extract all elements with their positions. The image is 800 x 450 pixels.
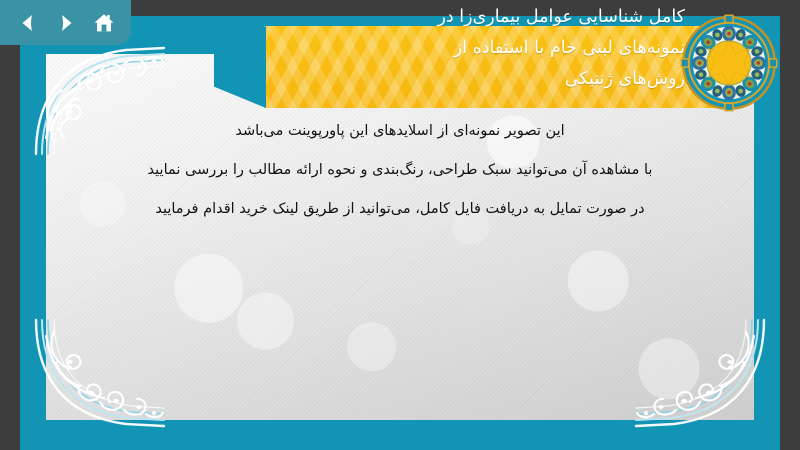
previous-slide-button[interactable] [14,9,42,37]
title-line-3: روش‌های ژنتیکی [230,64,685,95]
body-line-1: این تصویر نمونه‌ای از اسلایدهای این پاور… [50,112,750,151]
title-line-1: کامل شناسایی عوامل بیماری‌زا در [230,2,685,33]
slide-title: کامل شناسایی عوامل بیماری‌زا در نمونه‌ها… [230,2,685,95]
slide-body-text: این تصویر نمونه‌ای از اسلایدهای این پاور… [50,112,750,229]
slide-nav-bar [0,0,131,45]
triangle-right-icon [55,12,77,34]
body-line-2: با مشاهده آن می‌توانید سبک طراحی، رنگ‌بن… [50,151,750,190]
next-slide-button[interactable] [52,9,80,37]
body-line-3: در صورت تمایل به دریافت فایل کامل، می‌تو… [50,190,750,229]
title-line-2: نمونه‌های لبنی خام با استفاده از [230,33,685,64]
persian-mandala-medallion [680,14,778,112]
home-button[interactable] [90,9,118,37]
triangle-left-icon [17,12,39,34]
home-icon [92,11,116,35]
slide-content-panel [46,54,754,420]
